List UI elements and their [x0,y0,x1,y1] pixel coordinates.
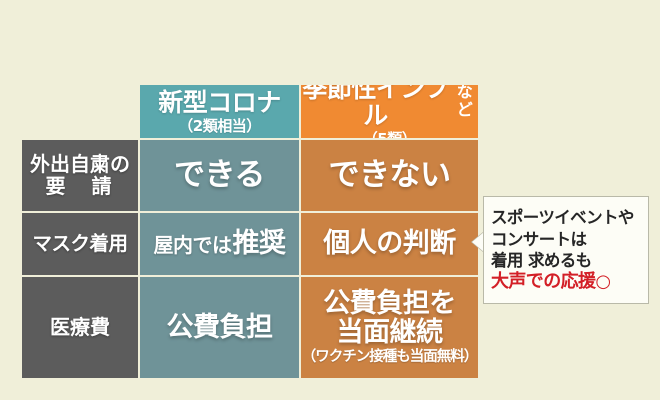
news-graphic-stage: 新型コロナ （2類相当） 季節性インフル など （5類） 外出自粛の 要 請 で… [0,0,660,400]
column-header-influenza-title-row: 季節性インフル など [301,85,478,129]
row-label-medical-cost: 医療費 [22,277,138,378]
row-label-outing-restraint: 外出自粛の 要 請 [22,140,138,211]
cell-outing-covid-value: できる [174,159,265,192]
callout-line-1: スポーツイベントや [491,208,644,227]
row-label-mask-wearing: マスク着用 [22,213,138,275]
column-header-influenza-suffix: など [451,85,478,118]
callout-line-3: 着用 求めるも [491,251,644,270]
cell-mask-covid-value-row: 屋内では 推奨 [154,229,286,258]
cell-medical-influenza: 公費負担を 当面継続 （ワクチン接種も当面無料） [301,277,478,378]
column-header-influenza-title: 季節性インフル [301,85,450,129]
cell-mask-covid-prefix: 屋内では [154,235,232,257]
row-label-medical-cost-text: 医療費 [50,317,110,339]
cell-medical-influenza-note: （ワクチン接種も当面無料） [302,350,478,366]
cell-outing-covid: できる [140,140,299,211]
cell-medical-covid: 公費負担 [140,277,299,378]
column-header-covid: 新型コロナ （2類相当） [140,85,299,138]
cell-medical-covid-value: 公費負担 [167,313,273,342]
column-header-influenza-subtitle: （5類） [363,131,416,138]
cell-mask-influenza-value: 個人の判断 [323,229,456,258]
cell-mask-covid: 屋内では 推奨 [140,213,299,275]
row-label-mask-wearing-text: マスク着用 [32,233,127,254]
cell-outing-influenza: できない [301,140,478,211]
cell-mask-influenza: 個人の判断 [301,213,478,275]
cell-medical-influenza-line1: 公費負担を [323,289,456,318]
cell-medical-influenza-line2: 当面継続 [337,318,443,347]
cell-outing-influenza-value: できない [329,159,451,192]
column-header-influenza: 季節性インフル など （5類） [301,85,478,138]
column-header-covid-subtitle: （2類相当） [178,118,260,134]
cell-mask-covid-emphasis: 推奨 [233,229,286,258]
row-label-outing-restraint-line1: 外出自粛の [30,154,130,176]
column-header-covid-title: 新型コロナ [158,89,281,116]
callout-line-accent: 大声での応援○ [491,272,644,293]
callout-line-2: コンサートは [491,230,644,249]
row-label-outing-restraint-line2: 要 請 [46,176,115,198]
callout-box: スポーツイベントや コンサートは 着用 求めるも 大声での応援○ [483,196,649,304]
